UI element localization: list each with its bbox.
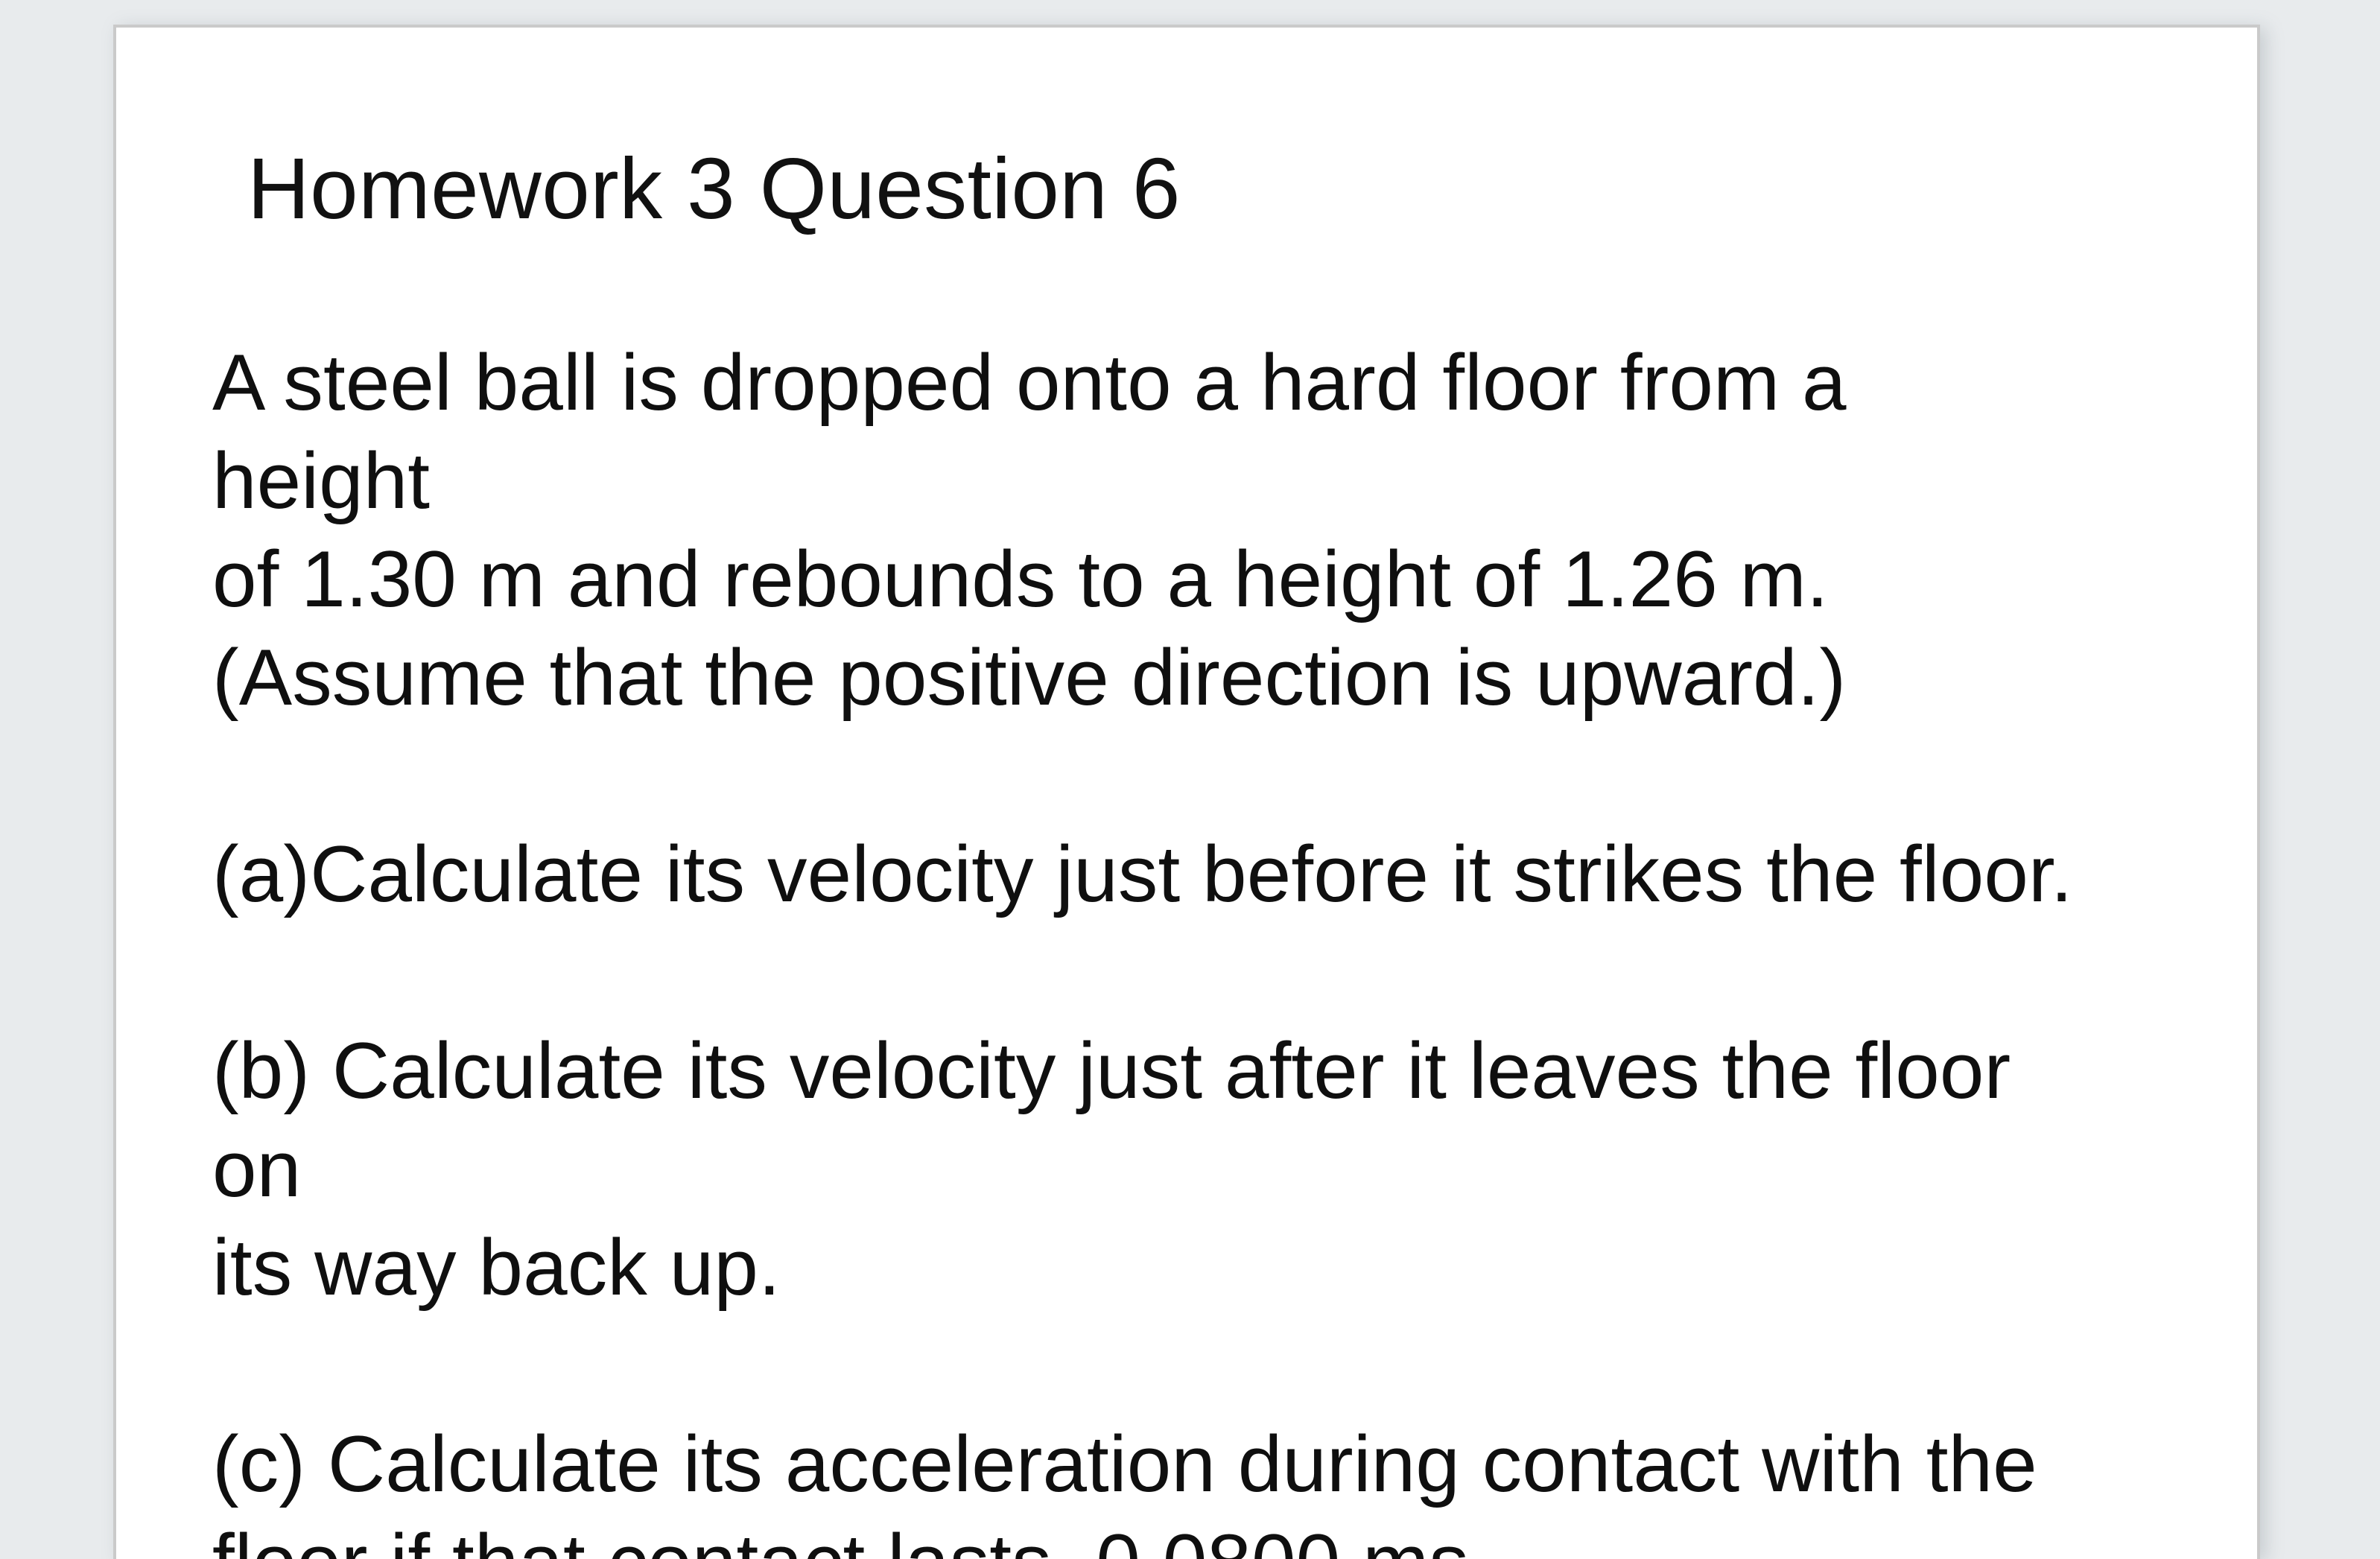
slide-page[interactable]: Homework 3 Question 6 A steel ball is dr… (113, 25, 2260, 1559)
question-part-a: (a)Calculate its velocity just before it… (212, 825, 2075, 923)
question-part-c-line-1: (c) Calculate its acceleration during co… (212, 1414, 2075, 1513)
slide-body-textbox[interactable]: A steel ball is dropped onto a hard floo… (212, 333, 2075, 1559)
intro-line-2: of 1.30 m and rebounds to a height of 1.… (212, 530, 2075, 628)
question-part-b-line-1: (b) Calculate its velocity just after it… (212, 1021, 2075, 1218)
question-part-b-line-2: its way back up. (212, 1218, 2075, 1316)
slide-viewer: Homework 3 Question 6 A steel ball is dr… (0, 0, 2380, 1534)
intro-line-3: (Assume that the positive direction is u… (212, 628, 2075, 726)
question-part-c-line-2: floor if that contact lasts 0.0800 ms. (212, 1513, 2075, 1559)
paragraph-spacer (212, 1316, 2075, 1414)
page-title: Homework 3 Question 6 (247, 136, 2184, 241)
intro-line-1: A steel ball is dropped onto a hard floo… (212, 333, 2075, 530)
paragraph-spacer (212, 726, 2075, 825)
paragraph-spacer (212, 923, 2075, 1021)
